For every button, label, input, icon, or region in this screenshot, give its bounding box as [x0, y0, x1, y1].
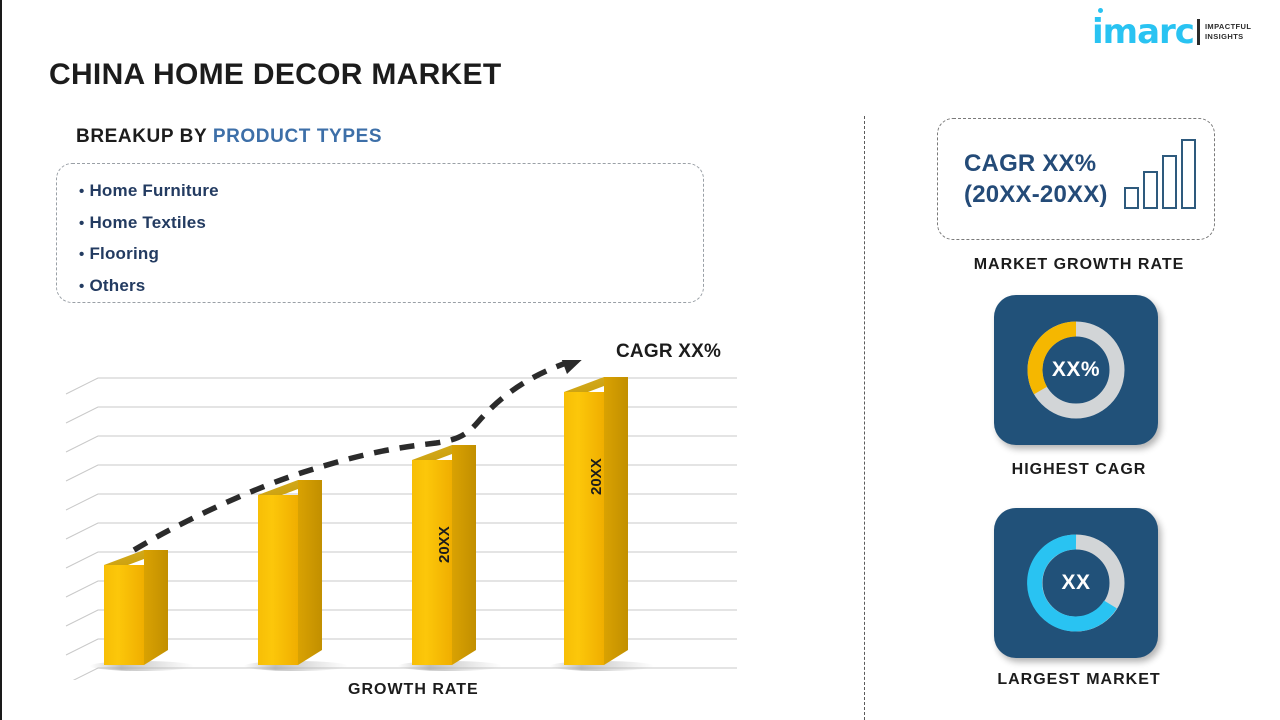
bar-2 — [258, 480, 322, 665]
logo-wordmark: imarc — [1092, 15, 1194, 49]
logo-dot-icon — [1098, 8, 1103, 13]
product-types-box: •Home Furniture •Home Textiles •Flooring… — [56, 163, 704, 303]
page-title: CHINA HOME DECOR MARKET — [49, 58, 501, 92]
largest-market-card: XX — [994, 508, 1158, 658]
list-item: •Home Furniture — [79, 176, 703, 208]
chart-svg — [64, 360, 739, 680]
logo-wordmark-text: imarc — [1092, 12, 1194, 52]
highest-cagr-value: XX% — [1052, 358, 1100, 382]
page-subtitle: BREAKUP BY PRODUCT TYPES — [76, 126, 382, 148]
chart-x-axis-label: GROWTH RATE — [348, 681, 479, 699]
bar-chart-icon — [1124, 139, 1196, 209]
market-growth-rate-box: CAGR XX% (20XX-20XX) — [937, 118, 1215, 240]
chart-cagr-annotation: CAGR XX% — [616, 341, 721, 363]
bar-4 — [564, 377, 628, 665]
list-item: •Home Textiles — [79, 208, 703, 240]
logo-tagline-line1: IMPACTFUL — [1205, 22, 1251, 32]
section-divider — [864, 116, 865, 720]
subtitle-highlight: PRODUCT TYPES — [213, 126, 382, 147]
highest-cagr-card: XX% — [994, 295, 1158, 445]
logo-divider — [1197, 19, 1200, 45]
market-growth-rate-caption: MARKET GROWTH RATE — [879, 256, 1279, 274]
logo-tagline-line2: INSIGHTS — [1205, 32, 1251, 42]
growth-bar-chart: 20XX 20XX — [64, 360, 739, 680]
largest-market-caption: LARGEST MARKET — [879, 671, 1279, 689]
trend-line — [134, 360, 588, 550]
list-item: •Others — [79, 271, 703, 303]
list-item: •Flooring — [79, 239, 703, 271]
largest-market-value: XX — [1061, 571, 1090, 595]
subtitle-prefix: BREAKUP BY — [76, 126, 213, 147]
list-item-label: Home Textiles — [89, 213, 206, 232]
bullet-dot-icon: • — [79, 215, 84, 232]
bullet-dot-icon: • — [79, 183, 84, 200]
trend-arrow-icon — [560, 360, 588, 374]
imarc-logo: imarc IMPACTFUL INSIGHTS — [1092, 10, 1262, 54]
bullet-dot-icon: • — [79, 246, 84, 263]
list-item-label: Flooring — [89, 244, 159, 263]
market-growth-rate-text: CAGR XX% (20XX-20XX) — [964, 148, 1108, 210]
bar-4-label: 20XX — [588, 458, 605, 495]
cagr-value: CAGR XX% — [964, 148, 1108, 179]
infographic-canvas: imarc IMPACTFUL INSIGHTS CHINA HOME DECO… — [2, 0, 1280, 720]
bar-3-label: 20XX — [436, 526, 453, 563]
highest-cagr-caption: HIGHEST CAGR — [879, 461, 1279, 479]
bullet-dot-icon: • — [79, 278, 84, 295]
cagr-period: (20XX-20XX) — [964, 179, 1108, 210]
list-item-label: Others — [89, 276, 145, 295]
bar-1 — [104, 550, 168, 665]
logo-tagline: IMPACTFUL INSIGHTS — [1205, 22, 1251, 42]
list-item-label: Home Furniture — [89, 181, 218, 200]
